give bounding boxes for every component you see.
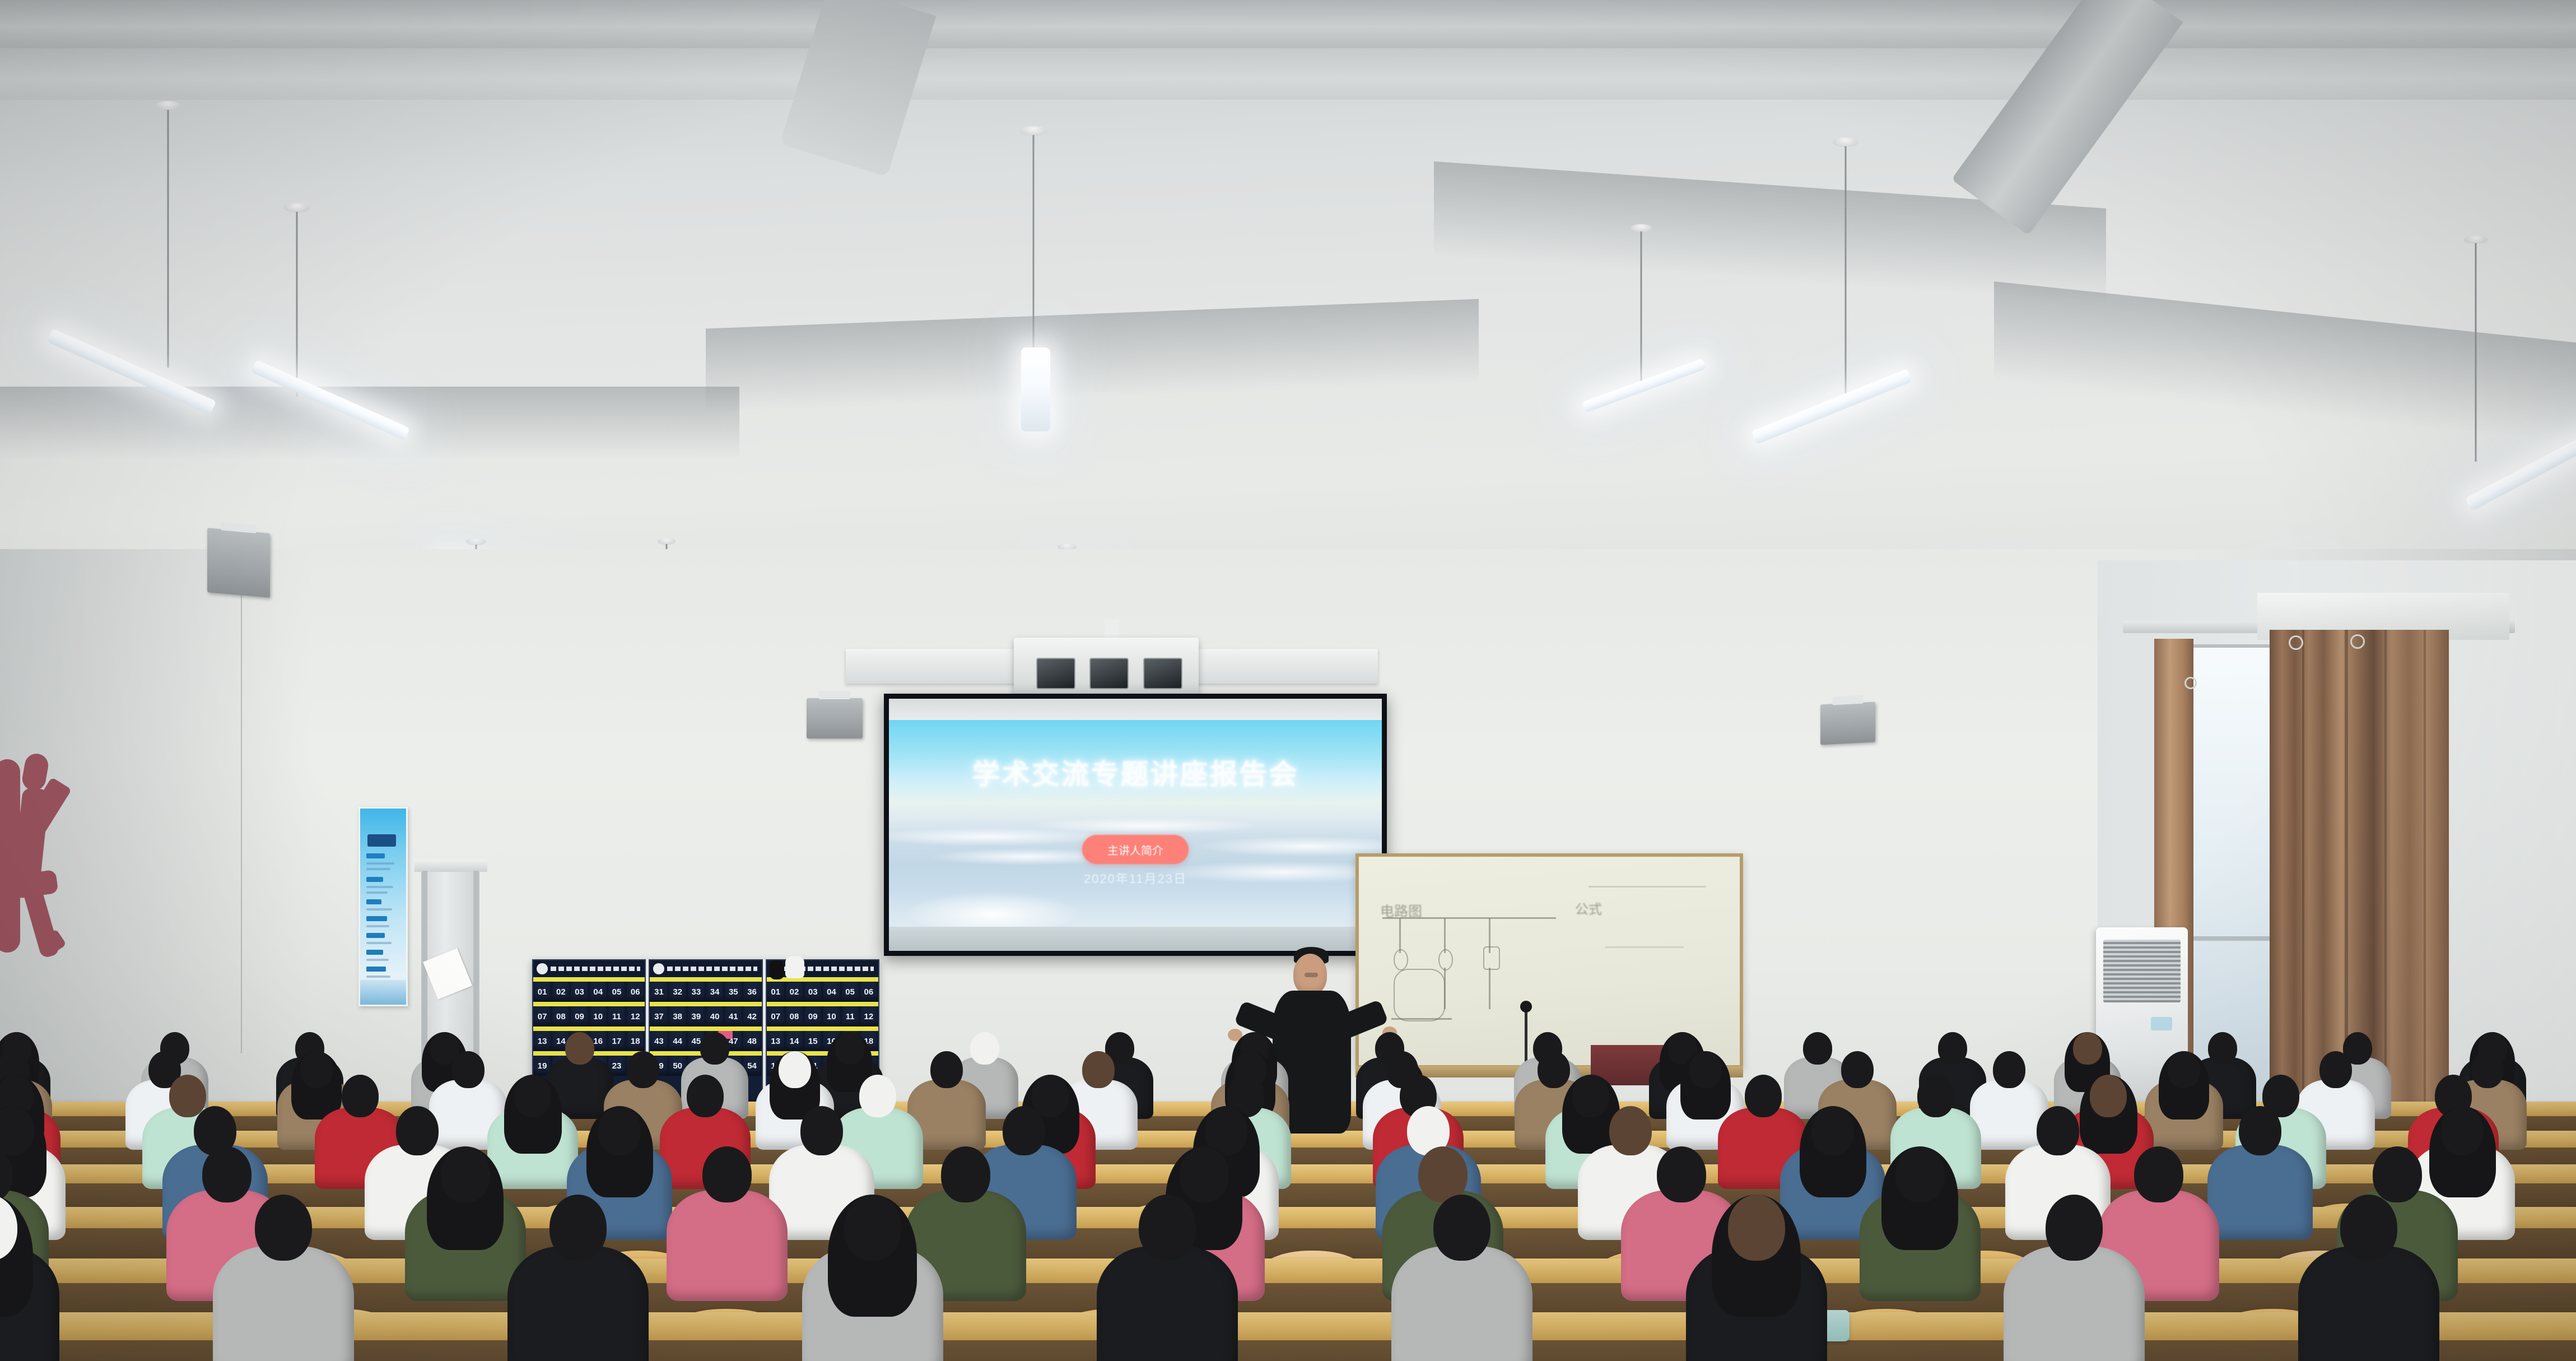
audience-head [1938,1032,1967,1065]
audience-head [549,1195,607,1261]
audience-head [1657,1146,1706,1202]
audience-head [779,1051,811,1088]
audience-head [1180,1146,1229,1202]
audience-head [1841,1051,1874,1088]
audience-member [802,1195,943,1361]
audience-head [2373,1146,2422,1202]
audience-head [2239,1106,2281,1155]
audience-member [1097,1195,1238,1361]
audience-torso [2004,1246,2145,1361]
audience-member [213,1195,354,1361]
audience-head [930,1051,963,1088]
audience-head [2168,1051,2200,1088]
audience-torso [2207,1145,2313,1240]
audience-head [1418,1146,1468,1202]
audience-torso [2298,1246,2439,1361]
audience-head [941,1146,990,1202]
audience-head [2037,1106,2079,1155]
audience-head [2046,1195,2103,1261]
audience-member [0,1195,59,1361]
audience-head [687,1075,724,1117]
audience [0,0,2576,1361]
audience-member [2298,1195,2439,1361]
audience-head [1139,1195,1196,1261]
audience-torso [667,1190,788,1301]
audience-torso [1391,1246,1532,1361]
audience-head [2134,1146,2183,1202]
audience-head [700,1032,729,1065]
audience-head [1993,1051,2025,1088]
audience-head [1728,1195,1785,1261]
audience-head [627,1051,659,1088]
audience-head [1811,1106,1854,1155]
audience-head [1433,1195,1490,1261]
audience-member [667,1146,788,1313]
audience-member [1860,1146,1981,1313]
audience-head [1745,1075,1782,1117]
audience-torso [213,1246,354,1361]
audience-torso [1097,1246,1238,1361]
audience-head [1895,1146,1945,1202]
audience-head [452,1051,485,1088]
audience-member [2004,1195,2145,1361]
audience-head [255,1195,312,1261]
audience-head [2340,1195,2397,1261]
audience-head [598,1106,641,1155]
audience-head [514,1075,551,1117]
audience-member [1391,1195,1532,1361]
audience-head [835,1032,864,1065]
audience-head [800,1106,843,1155]
audience-member [507,1195,649,1361]
audience-head [702,1146,752,1202]
audience-torso [507,1246,649,1361]
audience-head [2073,1032,2102,1065]
audience-member [1686,1195,1827,1361]
classroom-scene: 0102030405060708091011121314151617181920… [0,0,2576,1361]
audience-head [844,1195,901,1261]
audience-head [441,1146,490,1202]
audience-head [565,1032,594,1065]
audience-member [2207,1106,2313,1251]
audience-head [202,1146,251,1202]
audience-head [1689,1051,1722,1088]
audience-head [1917,1075,1954,1117]
